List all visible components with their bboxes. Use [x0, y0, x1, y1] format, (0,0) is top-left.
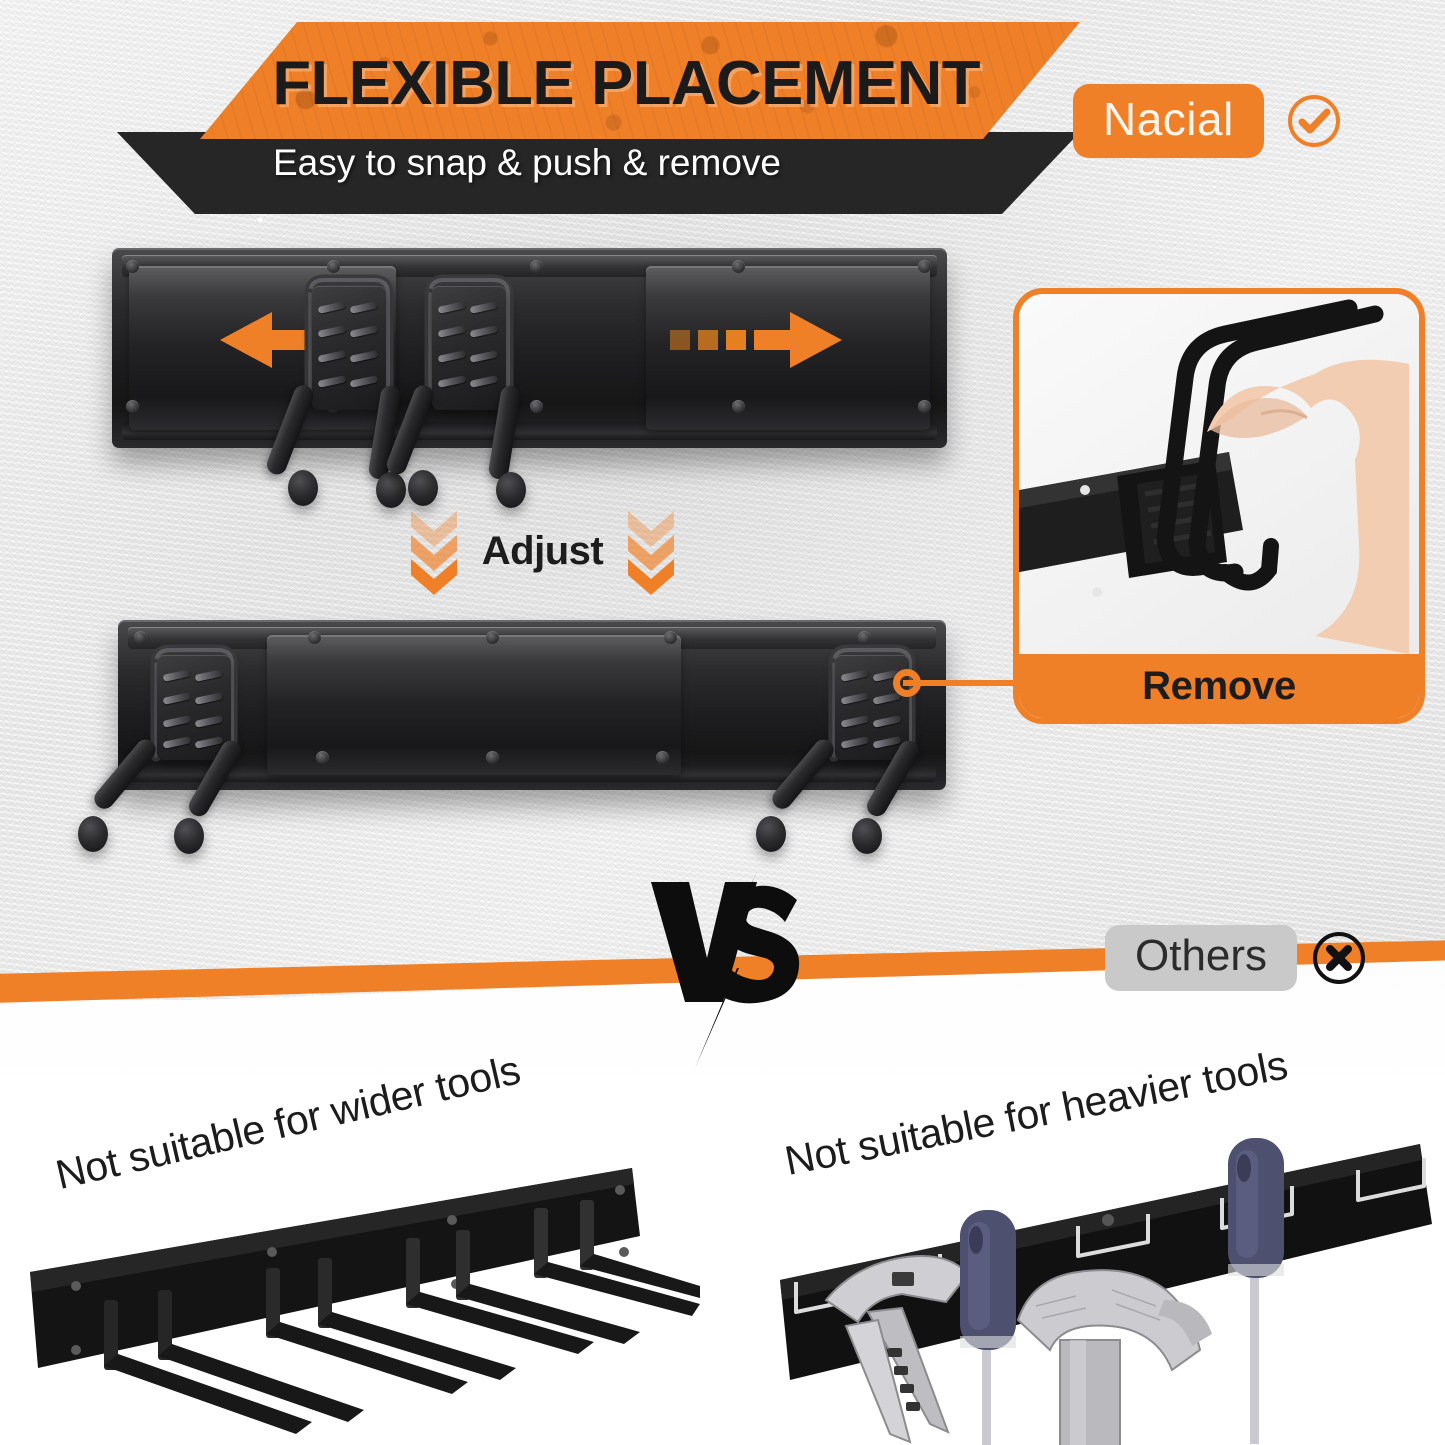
- hook-bracket: [294, 266, 404, 434]
- hook-bracket-plate: [157, 655, 230, 760]
- page-title: FLEXIBLE PLACEMENT: [272, 48, 1047, 119]
- screw: [530, 260, 543, 273]
- screw: [486, 631, 499, 644]
- hammer-tool: [1018, 1270, 1212, 1445]
- screw: [316, 751, 329, 764]
- screw: [732, 260, 745, 273]
- remove-label-bar: Remove: [1019, 654, 1419, 718]
- arrow-right-icon: [652, 310, 842, 370]
- screw: [918, 260, 931, 273]
- hook-tip: [376, 472, 406, 508]
- hook-tip: [852, 818, 882, 854]
- brand-badge: Nacial: [1073, 84, 1342, 158]
- screw: [664, 631, 677, 644]
- product-infographic: FLEXIBLE PLACEMENT Easy to snap & push &…: [0, 0, 1445, 1445]
- remove-callout-panel: Remove: [1013, 288, 1425, 724]
- hook-tip: [78, 816, 108, 852]
- remove-label: Remove: [1142, 664, 1296, 709]
- x-circle-icon: [1311, 930, 1367, 986]
- hook-tip: [288, 470, 318, 506]
- hook-bracket: [140, 638, 248, 780]
- remove-photo: [1019, 294, 1419, 654]
- rail-segment-center: [267, 635, 681, 774]
- brand-badge-label: Nacial: [1073, 84, 1264, 158]
- hook-bracket: [818, 638, 926, 780]
- rail-bottom: [118, 620, 946, 790]
- screw: [530, 400, 543, 413]
- chevron-down-triple-icon: [622, 505, 680, 597]
- hook-tip: [756, 816, 786, 852]
- hook-tip: [408, 470, 438, 506]
- screw: [126, 400, 139, 413]
- header-banner: FLEXIBLE PLACEMENT Easy to snap & push &…: [95, 22, 1080, 202]
- rail-top: [112, 248, 947, 448]
- others-badge-label: Others: [1105, 925, 1297, 991]
- hook-bracket-plate: [432, 286, 507, 410]
- screw: [126, 260, 139, 273]
- screw: [732, 400, 745, 413]
- vs-mark: [645, 872, 835, 1072]
- adjust-label: Adjust: [482, 529, 603, 574]
- others-badge: Others: [1105, 925, 1367, 991]
- page-subtitle: Easy to snap & push & remove: [273, 142, 1033, 184]
- screw: [308, 631, 321, 644]
- adjust-indicator: Adjust: [405, 503, 680, 599]
- chevron-down-triple-icon: [405, 505, 463, 597]
- screw: [918, 400, 931, 413]
- check-circle-icon: [1286, 93, 1342, 149]
- screwdriver-tool: [960, 1210, 1016, 1445]
- screw: [656, 751, 669, 764]
- hook-tip: [174, 818, 204, 854]
- screwdriver-tool: [1228, 1138, 1284, 1444]
- screw: [486, 751, 499, 764]
- hook-bracket: [414, 266, 524, 434]
- hook-bracket-plate: [312, 286, 387, 410]
- callout-connector-dot: [893, 669, 921, 697]
